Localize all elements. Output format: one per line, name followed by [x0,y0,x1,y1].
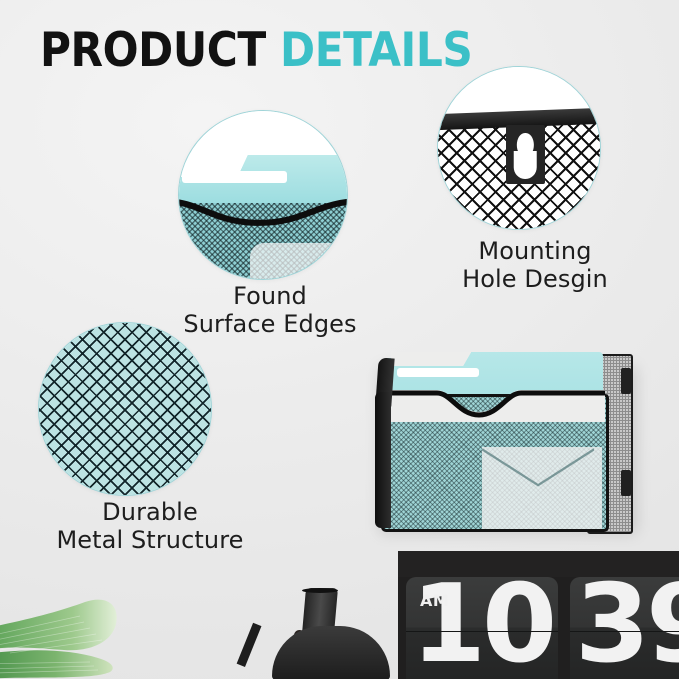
clock-minute-card: 39 [570,577,679,679]
clock-minute-split-line [570,631,679,632]
wall-bracket-bottom [621,470,631,496]
envelope-flap-icon [482,447,594,492]
clock-minute-digits: 39 [570,577,679,679]
flip-clock: AM 10 39 [398,551,679,679]
callout-circle-mounting-hole [437,66,601,230]
product-details-scene: PRODUCT DETAILS Found Surface Edges Moun… [0,0,679,679]
folder-tab-cut [391,352,463,366]
callout-label-mounting-hole: Mounting Hole Desgin [445,237,625,294]
metal-mesh-icon [39,323,211,495]
folder-gloss-highlight [182,171,286,183]
page-title-primary: PRODUCT [40,23,266,78]
callout-label-durable-metal: Durable Metal Structure [44,498,256,555]
white-envelope-hint [250,243,337,279]
clock-hour-split-line [406,631,558,632]
leaf-lower [0,650,113,679]
pocket-top-curve-icon [379,388,605,422]
mounting-plate [506,125,545,183]
desk-lamp [258,578,398,679]
plant-leaves [0,576,230,679]
holder-left-side [375,392,391,528]
lamp-neck-ring [302,588,338,593]
keyhole-slot-icon [514,151,537,179]
wall-bracket-top [621,368,631,394]
callout-circle-durable-metal [38,322,212,496]
lamp-shade [272,626,390,679]
page-title: PRODUCT DETAILS [40,27,472,74]
clock-meridiem: AM [420,591,449,610]
rounded-surface-edge-icon [178,185,348,229]
clock-top-edge [398,551,679,577]
folder-gloss-strip [397,368,479,377]
callout-circle-found-surface-edges [178,110,348,280]
product-file-holder [375,352,643,532]
